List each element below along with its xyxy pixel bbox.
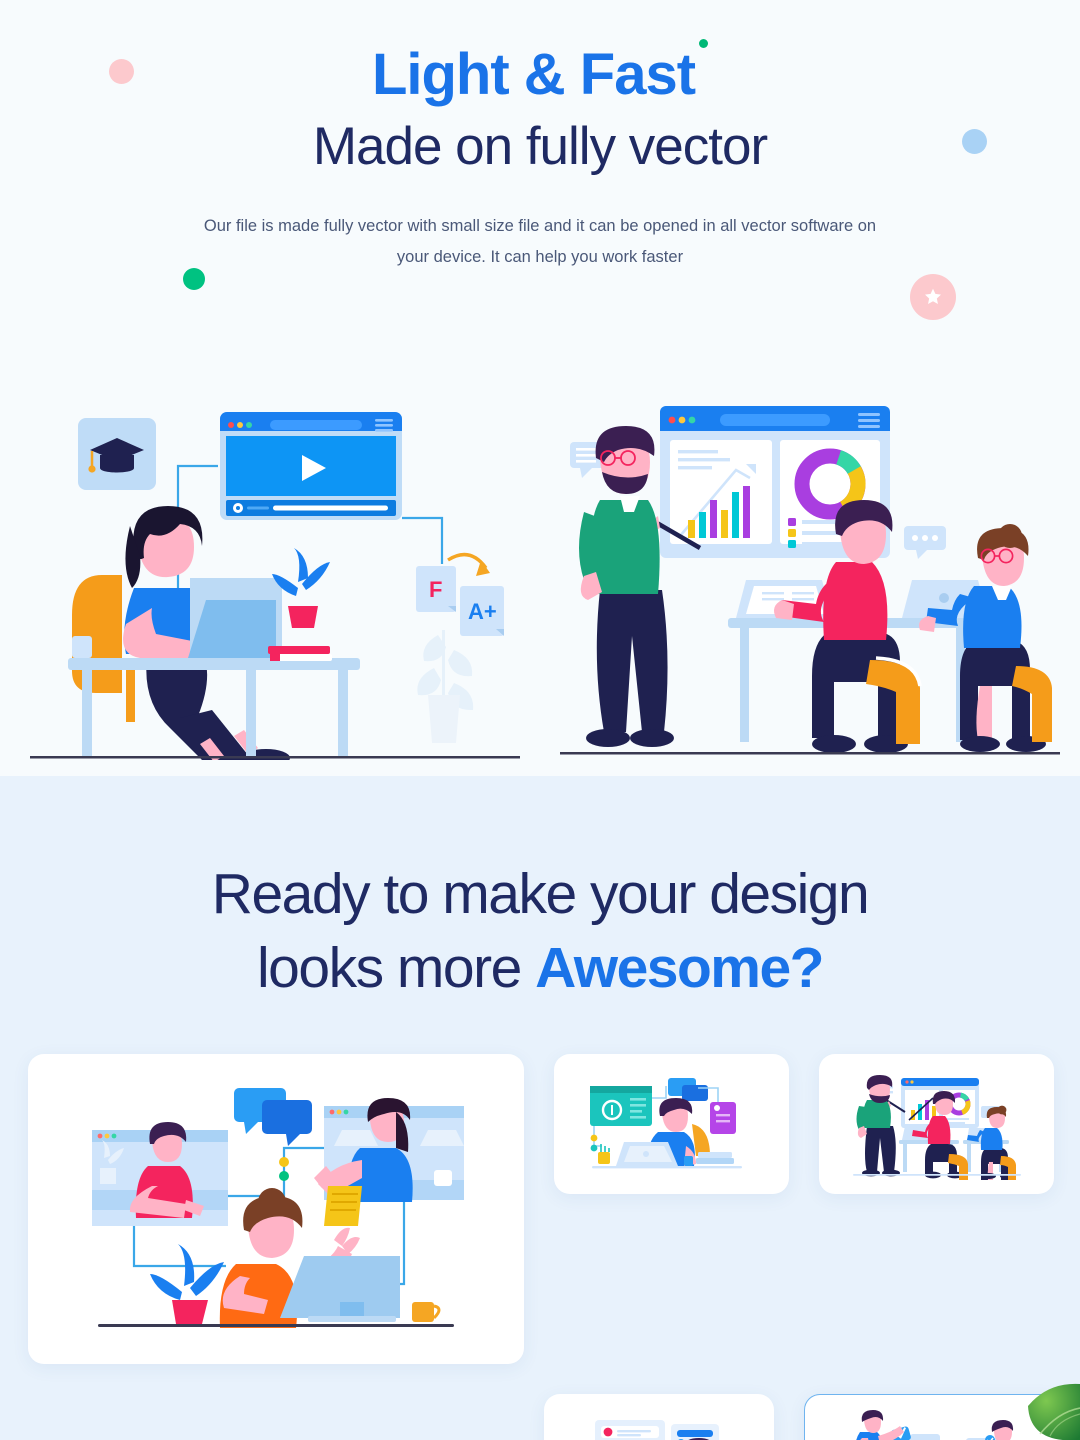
card-row-middle — [28, 1394, 1064, 1440]
participant-window-left — [92, 1122, 228, 1226]
title-dot-icon — [699, 39, 708, 48]
remote-study-card[interactable] — [554, 1054, 789, 1194]
page-subtitle: Made on fully vector — [0, 116, 1080, 177]
star-icon — [922, 286, 944, 308]
cta-title-accent: Awesome? — [535, 936, 823, 1000]
cta-title-line2-prefix: looks more — [257, 936, 535, 1000]
typing-bubble — [904, 526, 946, 559]
cta-title: Ready to make your design looks more Awe… — [0, 857, 1080, 1005]
user-management-card[interactable] — [544, 1394, 774, 1440]
decor-plant — [417, 630, 473, 743]
graduation-cap-card — [78, 418, 156, 490]
team-presentation-card[interactable] — [819, 1054, 1054, 1194]
video-player-window — [220, 412, 402, 520]
illustration-card-grid — [28, 1054, 1064, 1440]
business-presentation-illustration — [560, 400, 1060, 760]
grade-f-card: F — [416, 566, 456, 612]
workflow-planning-card[interactable] — [804, 1394, 1064, 1440]
grade-a-plus-card: A+ — [460, 586, 504, 636]
page-title: Light & Fast — [0, 44, 1080, 107]
cta-section: Ready to make your design looks more Awe… — [0, 776, 1080, 1440]
cta-title-line1: Ready to make your design — [212, 862, 868, 926]
svg-text:A+: A+ — [468, 599, 497, 624]
hero-section: Light & Fast Made on fully vector Our fi… — [0, 0, 1080, 776]
star-badge — [910, 274, 956, 320]
page-title-accent: Light & Fast — [372, 42, 695, 107]
hero-illustrations: F A+ — [0, 395, 1080, 760]
video-conference-card[interactable] — [28, 1054, 524, 1364]
online-learning-illustration: F A+ — [30, 400, 520, 760]
card-row-top — [28, 1054, 1064, 1364]
seated-woman-laptop — [919, 524, 1052, 752]
participant-window-right — [314, 1098, 464, 1226]
svg-text:F: F — [429, 577, 442, 602]
page-description: Our file is made fully vector with small… — [190, 211, 890, 273]
